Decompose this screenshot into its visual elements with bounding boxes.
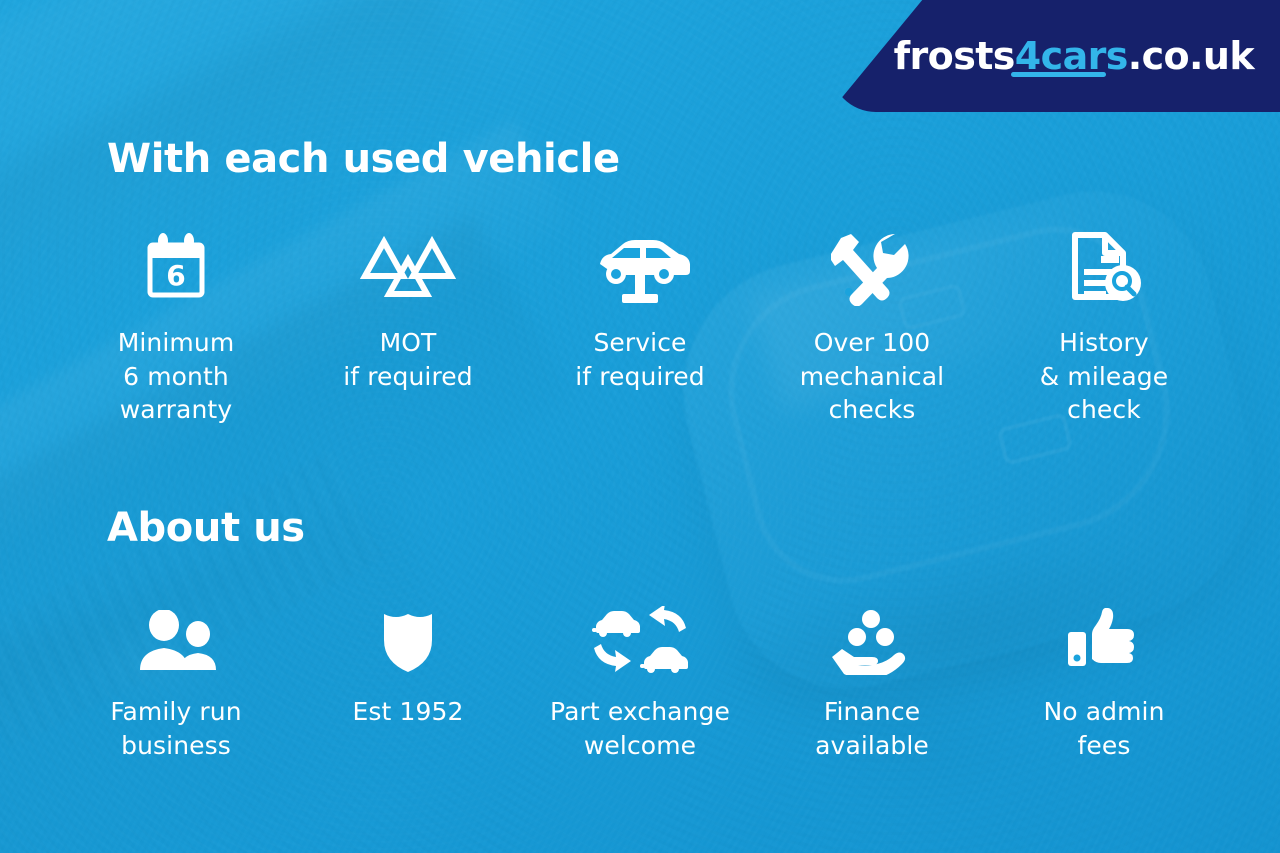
brand-logo[interactable]: frosts4cars.co.uk [894,34,1254,78]
two-people-icon [130,605,222,677]
shield-icon [380,605,436,677]
calendar-6-icon: 6 [141,232,211,304]
logo-underline-accent [1011,72,1106,77]
mot-triangles-icon [360,232,456,304]
feature-no-admin-fees: No admin fees [988,605,1220,762]
feature-label: History & mileage check [1040,326,1169,427]
document-magnifier-icon [1061,232,1147,304]
car-exchange-arrows-icon [590,605,690,677]
calendar-day-number: 6 [166,259,185,292]
feature-label: Finance available [815,695,929,762]
feature-finance-available: Finance available [756,605,988,762]
feature-label: Over 100 mechanical checks [800,326,944,427]
feature-part-exchange: Part exchange welcome [524,605,756,762]
feature-row-used-vehicle: 6 Minimum 6 month warranty MOT if requir… [60,232,1220,427]
feature-minimum-warranty: 6 Minimum 6 month warranty [60,232,292,427]
section-title-about-us: About us [107,505,305,551]
hand-coins-icon [826,605,918,677]
feature-row-about-us: Family run business Est 1952 [60,605,1220,762]
feature-label: Service if required [575,326,705,393]
car-on-lift-icon [588,232,692,304]
feature-label: No admin fees [1043,695,1164,762]
feature-label: Part exchange welcome [550,695,730,762]
page-content: With each used vehicle 6 Minimum 6 month… [0,0,1280,853]
feature-label: Est 1952 [353,695,464,729]
feature-est-1952: Est 1952 [292,605,524,729]
feature-label: Family run business [110,695,241,762]
logo-frosts: frosts [894,34,1015,78]
feature-mechanical-checks: Over 100 mechanical checks [756,232,988,427]
feature-mot: MOT if required [292,232,524,393]
logo-couk: .co.uk [1128,34,1254,78]
feature-history-check: History & mileage check [988,232,1220,427]
logo-container[interactable]: frosts4cars.co.uk [830,0,1280,112]
wrench-screwdriver-icon [831,232,913,304]
feature-family-run: Family run business [60,605,292,762]
section-title-used-vehicle: With each used vehicle [107,136,620,182]
feature-label: Minimum 6 month warranty [118,326,235,427]
feature-service: Service if required [524,232,756,393]
thumbs-up-icon [1062,605,1146,677]
feature-label: MOT if required [343,326,473,393]
